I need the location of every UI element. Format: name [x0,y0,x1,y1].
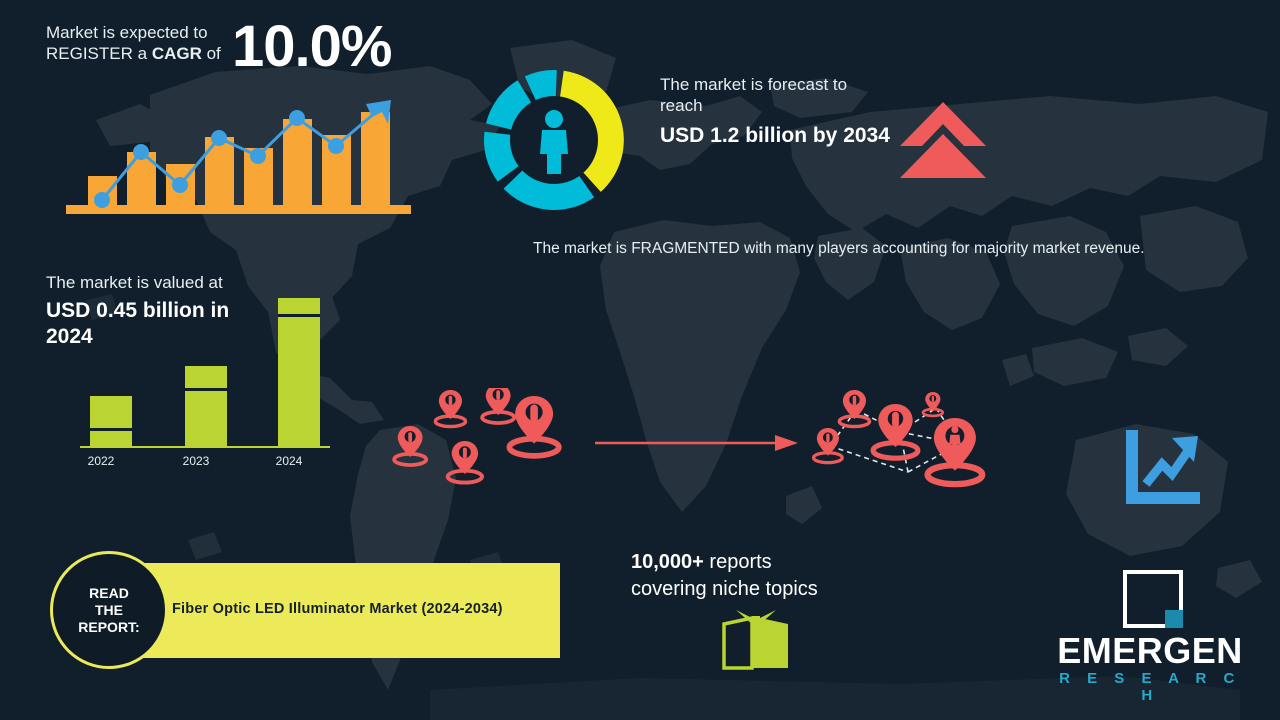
valuation-label: The market is valued at [46,272,223,293]
logo-name: EMERGEN [1055,632,1245,670]
reports-unit: reports [704,551,772,573]
read-the-report-badge[interactable]: READ THE REPORT: [50,551,168,669]
year-label-2022: 2022 [71,454,131,468]
market-value-bar-chart [80,296,330,448]
transition-arrow-icon [595,432,800,454]
read-the-report-label: READ THE REPORT: [78,585,139,636]
cagr-strong: CAGR [152,44,202,63]
growth-bar-chart [66,88,411,223]
map-pin [839,390,869,427]
fragmentation-text: The market is FRAGMENTED with many playe… [533,238,1233,260]
map-pin [509,396,558,456]
value-chart-baseline [80,446,330,448]
cta-line2: THE [95,602,123,618]
reports-line2: covering niche topics [631,576,818,603]
value-bars [90,298,320,446]
map-pin [394,426,426,465]
reports-count: 10,000+ [631,551,704,573]
cagr-value: 10.0% [232,18,391,76]
infographic-canvas: Market is expected to REGISTER a CAGR of… [0,0,1280,720]
report-title[interactable]: Fiber Optic LED Illuminator Market (2024… [172,601,572,617]
chart-baseline [66,205,411,214]
logo-subtitle: R E S E A R C H [1055,670,1245,704]
growth-bars [88,112,390,205]
map-pin [435,390,465,427]
growth-chart-icon [1122,428,1202,508]
cta-line3: REPORT: [78,619,139,635]
logo-accent-corner [1165,610,1183,628]
forecast-value: USD 1.2 billion by 2034 [660,123,890,149]
year-label-2024: 2024 [259,454,319,468]
up-arrow-icon [898,100,988,180]
map-pin [928,418,983,484]
reports-text: 10,000+ reports covering niche topics [631,549,818,603]
cagr-intro-pre: REGISTER a [46,44,152,63]
map-pin [873,404,918,458]
cta-line1: READ [89,585,129,601]
open-book-icon [722,610,790,672]
reports-line1: 10,000+ reports [631,549,818,576]
cagr-intro-post: of [202,44,221,63]
map-pin [814,428,843,463]
map-pin [448,441,482,483]
scattered-pins-group [385,388,575,493]
market-share-donut [466,52,642,228]
map-pin [923,392,943,416]
connected-pins-group [808,388,1008,498]
forecast-label: The market is forecast to reach [660,74,880,116]
emergen-research-logo[interactable]: EMERGEN R E S E A R C H [1055,570,1245,690]
map-pin [482,388,514,423]
year-label-2023: 2023 [166,454,226,468]
